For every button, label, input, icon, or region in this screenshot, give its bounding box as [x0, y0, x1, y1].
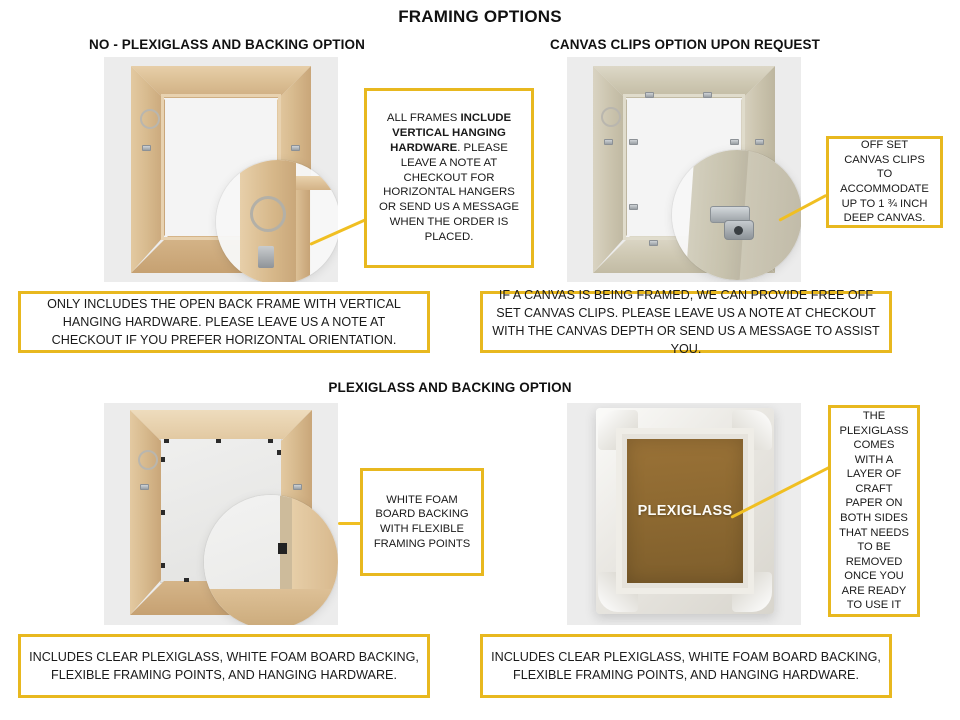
- note-plexiglass-right: INCLUDES CLEAR PLEXIGLASS, WHITE FOAM BO…: [480, 634, 892, 698]
- canvas-clip-icon: [629, 204, 638, 210]
- canvas-clip-icon: [703, 92, 712, 98]
- callout-canvas-clips-text: OFF SET CANVAS CLIPS TO ACCOMMODATE UP T…: [837, 138, 932, 225]
- photo-canvas-clips-frame: [567, 57, 801, 282]
- magnifier-detail-canvas-clip: [672, 150, 801, 280]
- framing-point-icon: [164, 439, 169, 443]
- note-open-back-frame-text: ONLY INCLUDES THE OPEN BACK FRAME WITH V…: [29, 295, 419, 350]
- callout-hanging-hardware: ALL FRAMES INCLUDE VERTICAL HANGING HARD…: [364, 88, 534, 268]
- callout-hanging-hardware-text: ALL FRAMES INCLUDE VERTICAL HANGING HARD…: [375, 111, 523, 244]
- framing-point-icon: [277, 450, 281, 455]
- photo-ornate-plexiglass-frame: PLEXIGLASS: [567, 403, 801, 625]
- frame-clip-icon: [142, 145, 151, 151]
- framing-point-icon: [161, 510, 165, 515]
- plexiglass-label: PLEXIGLASS: [635, 503, 735, 519]
- callout-foam-board: WHITE FOAM BOARD BACKING WITH FLEXIBLE F…: [360, 468, 484, 576]
- note-canvas-clips: IF A CANVAS IS BEING FRAMED, WE CAN PROV…: [480, 291, 892, 353]
- d-ring-hanger-icon: [140, 109, 160, 129]
- frame-clip-icon: [140, 484, 149, 490]
- section-title-canvas-clips: CANVAS CLIPS OPTION UPON REQUEST: [478, 37, 892, 52]
- magnifier-detail-framing-point: [204, 495, 338, 625]
- framing-point-icon: [216, 439, 221, 443]
- connector-line: [338, 522, 362, 525]
- callout-plexiglass-craft-paper-text: THE PLEXIGLASS COMES WITH A LAYER OF CRA…: [839, 409, 909, 613]
- canvas-clip-icon: [604, 139, 613, 145]
- frame-clip-icon: [293, 484, 302, 490]
- section-title-no-plexiglass: NO - PLEXIGLASS AND BACKING OPTION: [20, 37, 434, 52]
- framing-point-icon: [161, 457, 165, 462]
- note-plexiglass-right-text: INCLUDES CLEAR PLEXIGLASS, WHITE FOAM BO…: [491, 648, 881, 685]
- canvas-clip-icon: [649, 240, 658, 246]
- photo-open-back-frame: [104, 57, 338, 282]
- callout-rest: . PLEASE LEAVE A NOTE AT CHECKOUT FOR HO…: [379, 142, 519, 243]
- section-title-plexiglass-backing: PLEXIGLASS AND BACKING OPTION: [280, 380, 620, 395]
- canvas-clip-icon: [755, 139, 764, 145]
- d-ring-hanger-icon: [138, 450, 158, 470]
- frame-clip-icon: [291, 145, 300, 151]
- callout-canvas-clips: OFF SET CANVAS CLIPS TO ACCOMMODATE UP T…: [826, 136, 943, 228]
- callout-plexiglass-craft-paper: THE PLEXIGLASS COMES WITH A LAYER OF CRA…: [828, 405, 920, 617]
- photo-foam-board-backing: [104, 403, 338, 625]
- note-plexiglass-left: INCLUDES CLEAR PLEXIGLASS, WHITE FOAM BO…: [18, 634, 430, 698]
- canvas-clip-icon: [730, 139, 739, 145]
- framing-options-infographic: FRAMING OPTIONS NO - PLEXIGLASS AND BACK…: [0, 0, 960, 720]
- note-open-back-frame: ONLY INCLUDES THE OPEN BACK FRAME WITH V…: [18, 291, 430, 353]
- framing-point-icon: [268, 439, 273, 443]
- callout-foam-board-text: WHITE FOAM BOARD BACKING WITH FLEXIBLE F…: [371, 493, 473, 551]
- canvas-clip-icon: [645, 92, 654, 98]
- framing-point-icon: [161, 563, 165, 568]
- callout-lead: ALL FRAMES: [387, 112, 461, 124]
- magnifier-detail-d-ring: [216, 160, 338, 282]
- d-ring-hanger-icon: [601, 107, 621, 127]
- framing-point-icon: [184, 578, 189, 582]
- note-plexiglass-left-text: INCLUDES CLEAR PLEXIGLASS, WHITE FOAM BO…: [29, 648, 419, 685]
- page-title: FRAMING OPTIONS: [0, 7, 960, 27]
- canvas-clip-icon: [629, 139, 638, 145]
- note-canvas-clips-text: IF A CANVAS IS BEING FRAMED, WE CAN PROV…: [491, 286, 881, 359]
